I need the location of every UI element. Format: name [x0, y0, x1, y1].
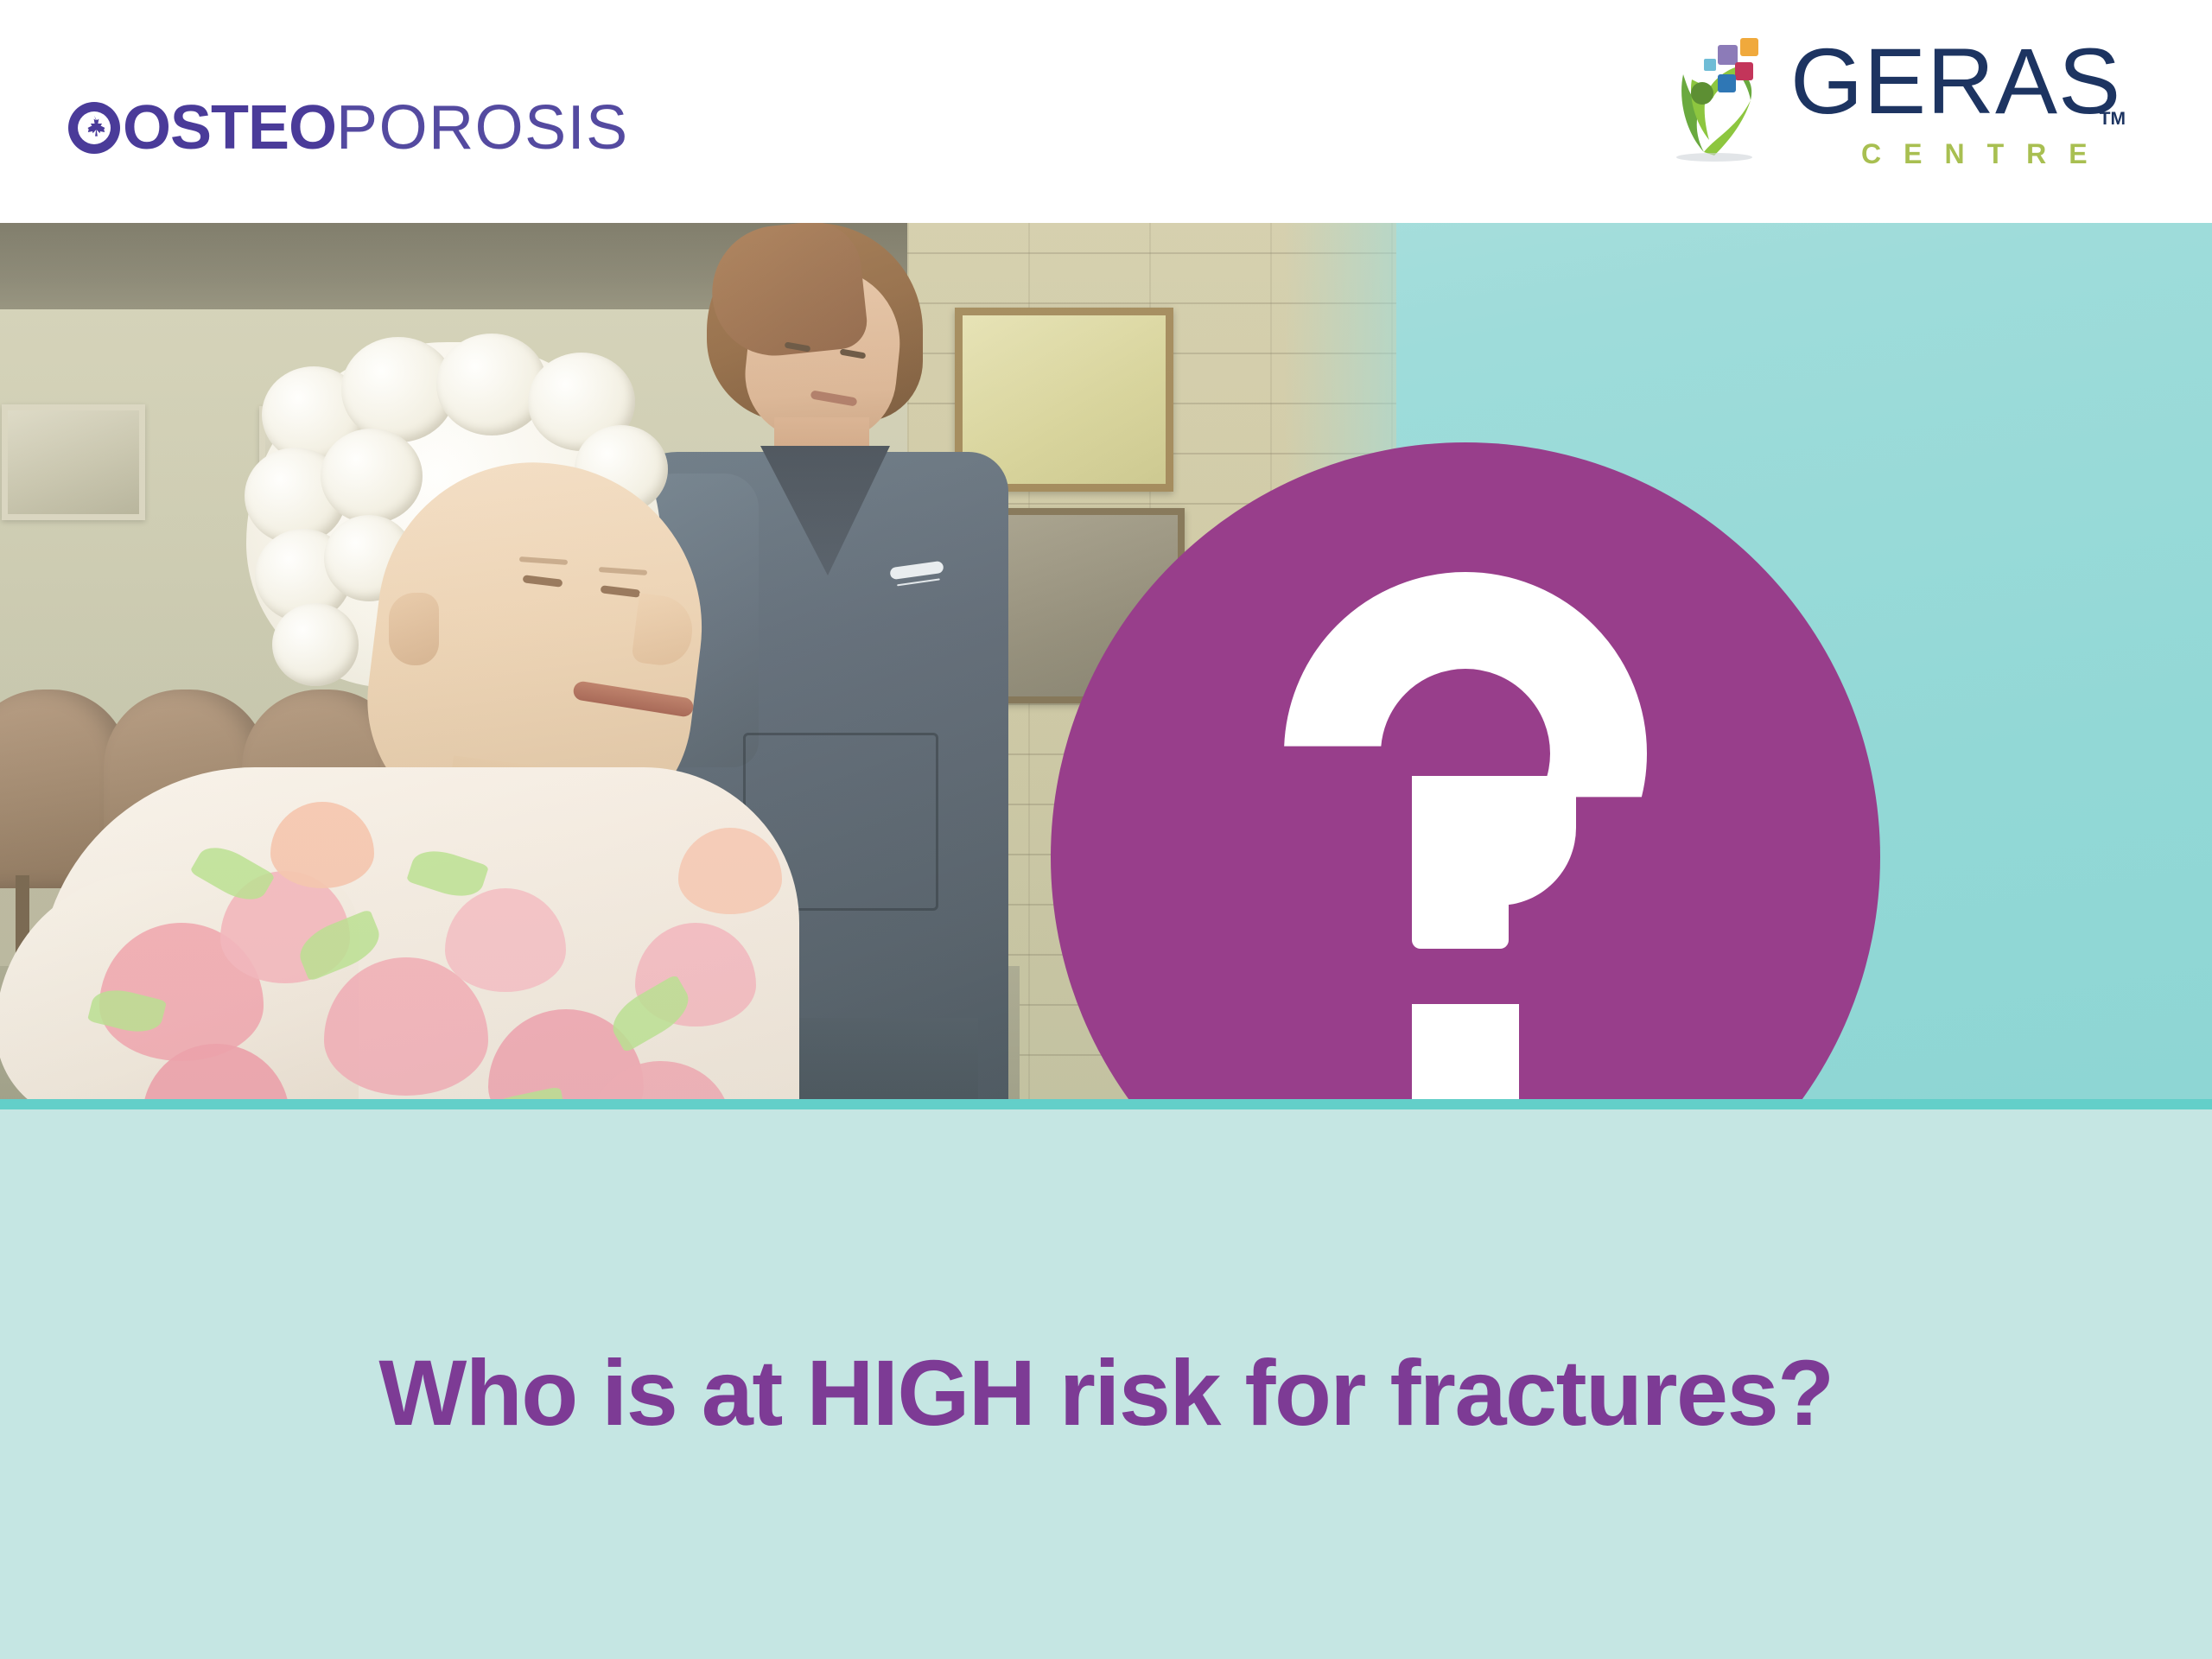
- hero-band: [0, 223, 2212, 1106]
- slide: OSTEOPOROSIS: [0, 0, 2212, 1659]
- caption-panel: Who is at HIGH risk for fractures?: [0, 1109, 2212, 1659]
- geras-figure-icon: [1654, 26, 1785, 164]
- osteoporosis-wordmark-thin: POROSIS: [336, 97, 629, 159]
- geras-wordmark: GERAS: [1790, 35, 2121, 128]
- geras-subtitle: CENTRE: [1861, 140, 2110, 168]
- question-mark-glyph: [1284, 572, 1647, 1106]
- slide-title: Who is at HIGH risk for fractures?: [0, 1346, 2212, 1440]
- osteoporosis-wordmark: OSTEOPOROSIS: [123, 97, 629, 159]
- slide-header: OSTEOPOROSIS: [0, 0, 2212, 223]
- hero-divider-rule: [0, 1099, 2212, 1109]
- osteoporosis-maple-leaf-icon: [67, 101, 121, 155]
- geras-trademark: TM: [2100, 109, 2126, 130]
- osteoporosis-wordmark-bold: OSTEO: [123, 97, 336, 159]
- geras-logo: GERAS TM CENTRE: [1654, 19, 2120, 179]
- older-woman-figure: [39, 318, 903, 1106]
- osteoporosis-logo: OSTEOPOROSIS: [67, 93, 629, 162]
